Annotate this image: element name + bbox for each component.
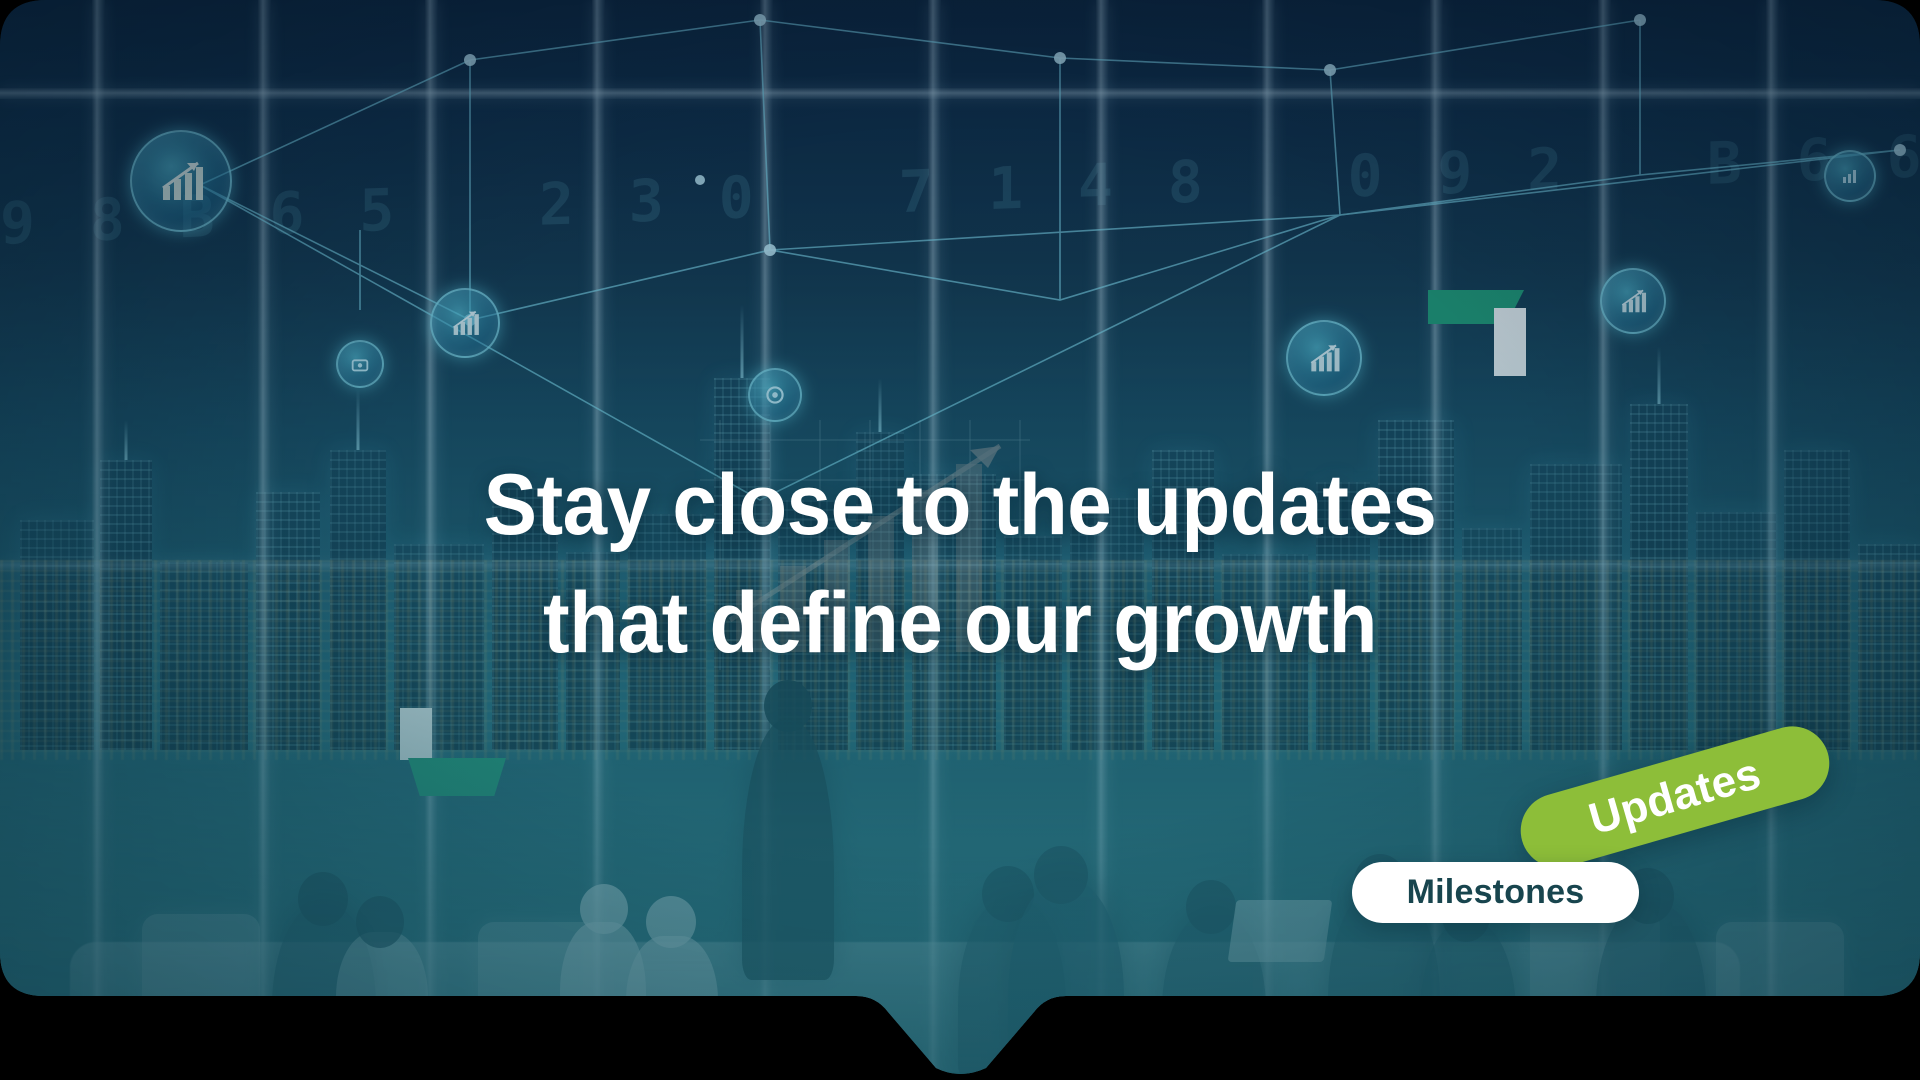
banner-root: 9 8 B 6 5 2 3 0 7 1 4 8 0 9 2 B 6 6 1 8 … xyxy=(0,0,1920,1080)
banner-card: 9 8 B 6 5 2 3 0 7 1 4 8 0 9 2 B 6 6 1 8 … xyxy=(0,0,1920,1080)
vignette-overlay xyxy=(0,0,1920,1080)
milestones-badge[interactable]: Milestones xyxy=(1352,862,1639,923)
